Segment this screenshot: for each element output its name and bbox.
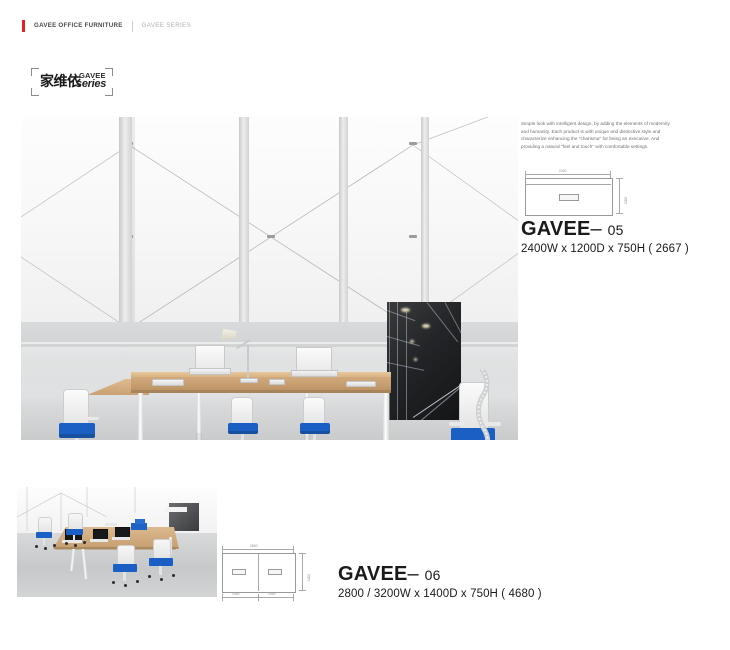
product-model-gavee-05: GAVEE– 05: [521, 218, 689, 241]
wall-cable-pattern-icon: [21, 117, 518, 322]
drawing-center-divider: [258, 553, 259, 591]
task-chair: [63, 513, 89, 549]
dim-label-bottom-right: 1400: [268, 592, 276, 596]
column-shadow: [132, 117, 135, 322]
dim-line-bottom-right: [258, 597, 294, 598]
desk-leg: [138, 393, 143, 440]
product-dash: –: [408, 563, 419, 585]
desk-surface-highlight: [131, 372, 391, 377]
drawing-handle: [559, 194, 579, 201]
laptop-base: [189, 368, 231, 375]
product-spec-gavee-05: GAVEE– 05 2400W x 1200D x 750H ( 2667 ): [521, 218, 689, 255]
dim-tick: [299, 553, 306, 554]
dim-label-bottom-left: 1400: [232, 592, 240, 596]
blue-accessory-box: [131, 523, 147, 530]
product-brand: GAVEE: [521, 218, 591, 240]
product-dimensions-gavee-05: 2400W x 1200D x 750H ( 2667 ): [521, 243, 689, 255]
technical-drawing-gavee-06: 2800 1400 1400 1400: [218, 543, 328, 603]
product-spec-gavee-06: GAVEE– 06 2800 / 3200W x 1400D x 750H ( …: [338, 563, 542, 600]
logo-corner-tr-icon: [105, 68, 113, 76]
product-description: Simple look with intelligent design, by …: [521, 120, 673, 150]
product-dimensions-gavee-06: 2800 / 3200W x 1400D x 750H ( 4680 ): [338, 588, 542, 600]
dim-tick: [299, 590, 306, 591]
product-number: 05: [608, 222, 624, 238]
drawing-inner-line: [525, 184, 611, 185]
dim-tick: [222, 546, 223, 553]
product-dash: –: [591, 218, 602, 240]
breadcrumb-separator: [132, 21, 133, 32]
product-photo-gavee-05: [21, 117, 518, 440]
page-header: GAVEE OFFICE FURNITURE GAVEE SERIES: [0, 0, 730, 40]
desk-edge: [131, 390, 391, 393]
structural-column: [421, 117, 429, 322]
structural-column: [239, 117, 249, 322]
background-counter: [165, 507, 187, 512]
structural-column: [339, 117, 348, 322]
keyboard: [346, 381, 376, 387]
cable-manager-icon: [476, 369, 498, 440]
drawing-handle: [232, 569, 246, 575]
dim-label-depth: 1400: [307, 574, 311, 581]
logo-corner-br-icon: [105, 88, 113, 96]
task-chair: [109, 545, 143, 593]
dim-tick: [258, 594, 259, 601]
product-photo-gavee-06: [17, 487, 217, 597]
keyboard: [152, 379, 184, 386]
laptop-base: [90, 539, 108, 542]
dim-line-right: [302, 553, 303, 591]
logo-corner-tl-icon: [31, 68, 39, 76]
dim-label-depth: 1200: [624, 197, 628, 204]
product-catalog-page: GAVEE OFFICE FURNITURE GAVEE SERIES 家维依 …: [0, 0, 730, 650]
breadcrumb-sub[interactable]: GAVEE SERIES: [142, 20, 191, 32]
laptop-base: [112, 537, 130, 540]
accent-bar-icon: [22, 20, 25, 32]
dim-line-top: [525, 174, 611, 175]
brand-logo: 家维依 GAVEE series: [31, 68, 113, 96]
task-chair: [33, 517, 59, 553]
dim-line-bottom-left: [222, 597, 258, 598]
task-chair: [49, 389, 109, 440]
mousepad: [269, 379, 285, 385]
lamp-post: [247, 345, 249, 379]
laptop-base: [291, 370, 338, 377]
desk-leg: [383, 393, 389, 440]
lamp-base: [240, 378, 258, 383]
product-model-gavee-06: GAVEE– 06: [338, 563, 542, 586]
dim-label-width: 2400: [559, 169, 567, 173]
task-chair: [145, 539, 179, 587]
dim-tick: [525, 171, 526, 178]
logo-chinese-text: 家维依: [40, 73, 81, 91]
dim-tick: [222, 594, 223, 601]
dim-tick: [293, 546, 294, 553]
dim-tick: [616, 213, 623, 214]
paper-document: [105, 523, 117, 526]
desk-leg-foot: [196, 433, 202, 440]
desk-leg: [197, 393, 201, 435]
dim-line-right: [619, 178, 620, 214]
logo-corner-bl-icon: [31, 88, 39, 96]
dim-tick: [610, 171, 611, 178]
dim-tick: [293, 594, 294, 601]
breadcrumb-main[interactable]: GAVEE OFFICE FURNITURE: [34, 20, 123, 32]
breadcrumb: GAVEE OFFICE FURNITURE GAVEE SERIES: [22, 20, 191, 32]
dim-tick: [616, 178, 623, 179]
technical-drawing-gavee-05: 2400 1200: [521, 168, 651, 216]
blue-accessory-box: [135, 519, 145, 524]
task-chair: [221, 397, 273, 440]
product-number: 06: [425, 567, 441, 583]
dim-line-top: [222, 549, 294, 550]
product-brand: GAVEE: [338, 563, 408, 585]
logo-series-text: series: [76, 78, 106, 90]
task-chair: [293, 397, 345, 440]
drawing-handle: [268, 569, 282, 575]
dim-label-width: 2800: [250, 544, 258, 548]
structural-column: [119, 117, 132, 322]
